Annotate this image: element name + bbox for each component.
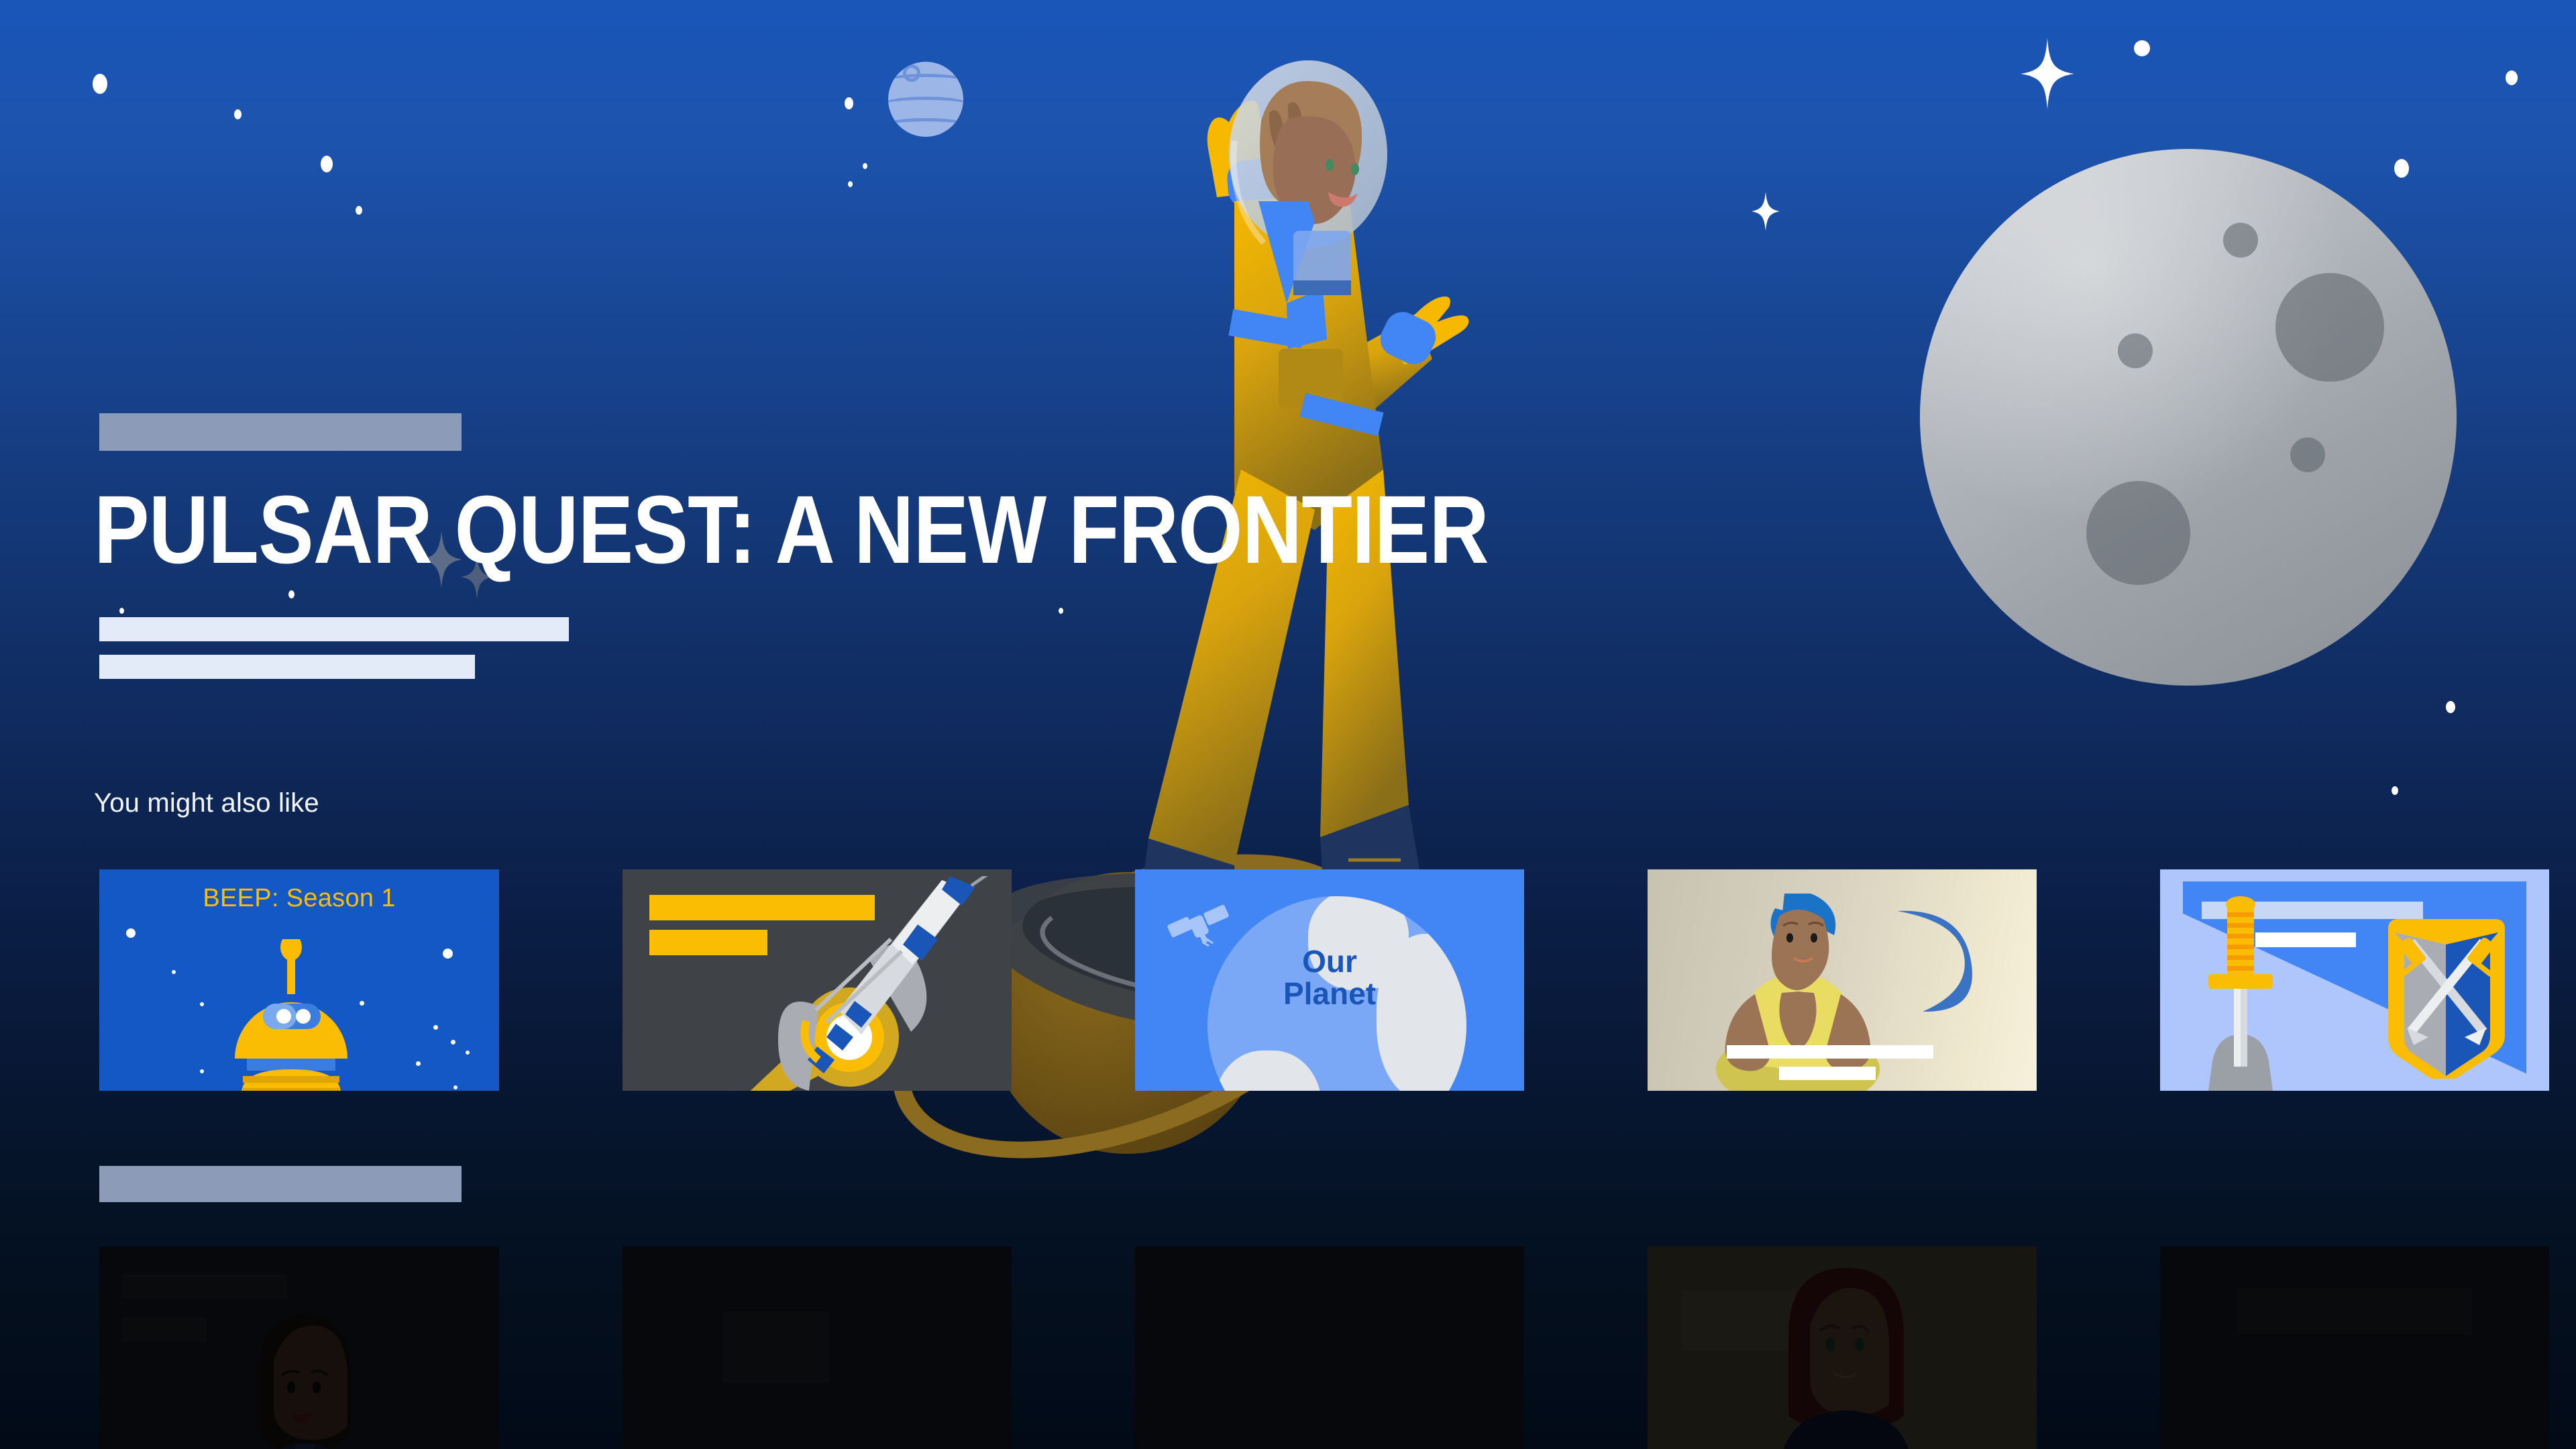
- star: [234, 109, 241, 119]
- star: [848, 181, 853, 187]
- star: [321, 156, 333, 172]
- sparkle-star-icon: [2019, 37, 2076, 111]
- subtitle-placeholder-bar-1: [99, 617, 569, 641]
- subtitle-placeholder-bar-2: [99, 655, 475, 679]
- section-label-recommendations: You might also like: [94, 788, 319, 818]
- star: [453, 1085, 458, 1089]
- crescent-moon-icon: [1881, 906, 1982, 1013]
- star: [863, 163, 867, 169]
- star: [416, 1061, 421, 1066]
- card-rocket-launch[interactable]: [623, 869, 1012, 1091]
- star: [466, 1051, 470, 1055]
- star: [200, 1002, 204, 1006]
- star: [288, 590, 294, 598]
- card-row-secondary: [99, 1246, 2549, 1449]
- star: [2446, 701, 2455, 713]
- card-placeholder-bar: [1727, 1045, 1933, 1059]
- hero-page: PULSAR QUEST: A NEW FRONTIER You might a…: [0, 0, 2576, 1449]
- star: [126, 928, 136, 938]
- portrait-icon: [1768, 1264, 1923, 1449]
- card-title-line: Planet: [1135, 978, 1524, 1010]
- sword-in-stone-icon: [2198, 892, 2285, 1091]
- moon-crater: [2275, 273, 2384, 382]
- moon-crater: [2086, 481, 2190, 585]
- page-title: PULSAR QUEST: A NEW FRONTIER: [94, 482, 1489, 578]
- robot-icon: [217, 939, 365, 1091]
- card-meditation[interactable]: [1648, 869, 2037, 1091]
- card-placeholder-bar: [2238, 1288, 2471, 1335]
- card-placeholder-bar: [1779, 1067, 1876, 1080]
- eyebrow-placeholder-bar: [99, 413, 462, 451]
- card-row2-2[interactable]: [623, 1246, 1012, 1449]
- card-beep-season-1[interactable]: BEEP: Season 1: [99, 869, 499, 1091]
- star: [172, 970, 176, 974]
- star: [845, 97, 853, 109]
- card-row2-5[interactable]: [2160, 1246, 2549, 1449]
- star: [451, 1040, 455, 1044]
- star: [443, 949, 453, 959]
- card-sword-shield[interactable]: [2160, 869, 2549, 1091]
- card-row-recommendations: BEEP: Season 1: [99, 869, 2549, 1091]
- moon-crater: [2118, 333, 2153, 368]
- star: [2134, 40, 2150, 56]
- moon-crater: [2290, 437, 2325, 472]
- satellite-icon: [1167, 902, 1229, 950]
- star: [2394, 159, 2409, 178]
- rocket-icon: [737, 876, 1012, 1091]
- shield-crossed-swords-icon: [2383, 911, 2510, 1079]
- portrait-icon: [217, 1311, 392, 1449]
- star: [119, 608, 124, 614]
- card-row2-1[interactable]: [99, 1246, 499, 1449]
- star: [200, 1069, 204, 1073]
- star: [2392, 786, 2398, 795]
- moon: [1920, 149, 2457, 686]
- card-placeholder-bar: [122, 1318, 207, 1342]
- card-placeholder-bar: [723, 1311, 829, 1382]
- moon-crater: [2223, 223, 2258, 258]
- meditating-person-icon: [1712, 894, 1886, 1091]
- card-placeholder-bar: [122, 1275, 287, 1299]
- star: [93, 74, 107, 94]
- card-title-line: Our: [1135, 946, 1524, 978]
- card-title-our-planet: OurPlanet: [1135, 946, 1524, 1010]
- star: [2506, 70, 2518, 85]
- card-our-planet[interactable]: OurPlanet: [1135, 869, 1524, 1091]
- card-title-beep: BEEP: Season 1: [99, 884, 499, 913]
- sparkle-star-icon: [1751, 191, 1780, 231]
- star: [356, 206, 362, 215]
- card-row2-3[interactable]: [1135, 1246, 1524, 1449]
- star: [433, 1025, 438, 1030]
- card-row2-4[interactable]: [1648, 1246, 2037, 1449]
- section-label-placeholder-bar: [99, 1166, 462, 1202]
